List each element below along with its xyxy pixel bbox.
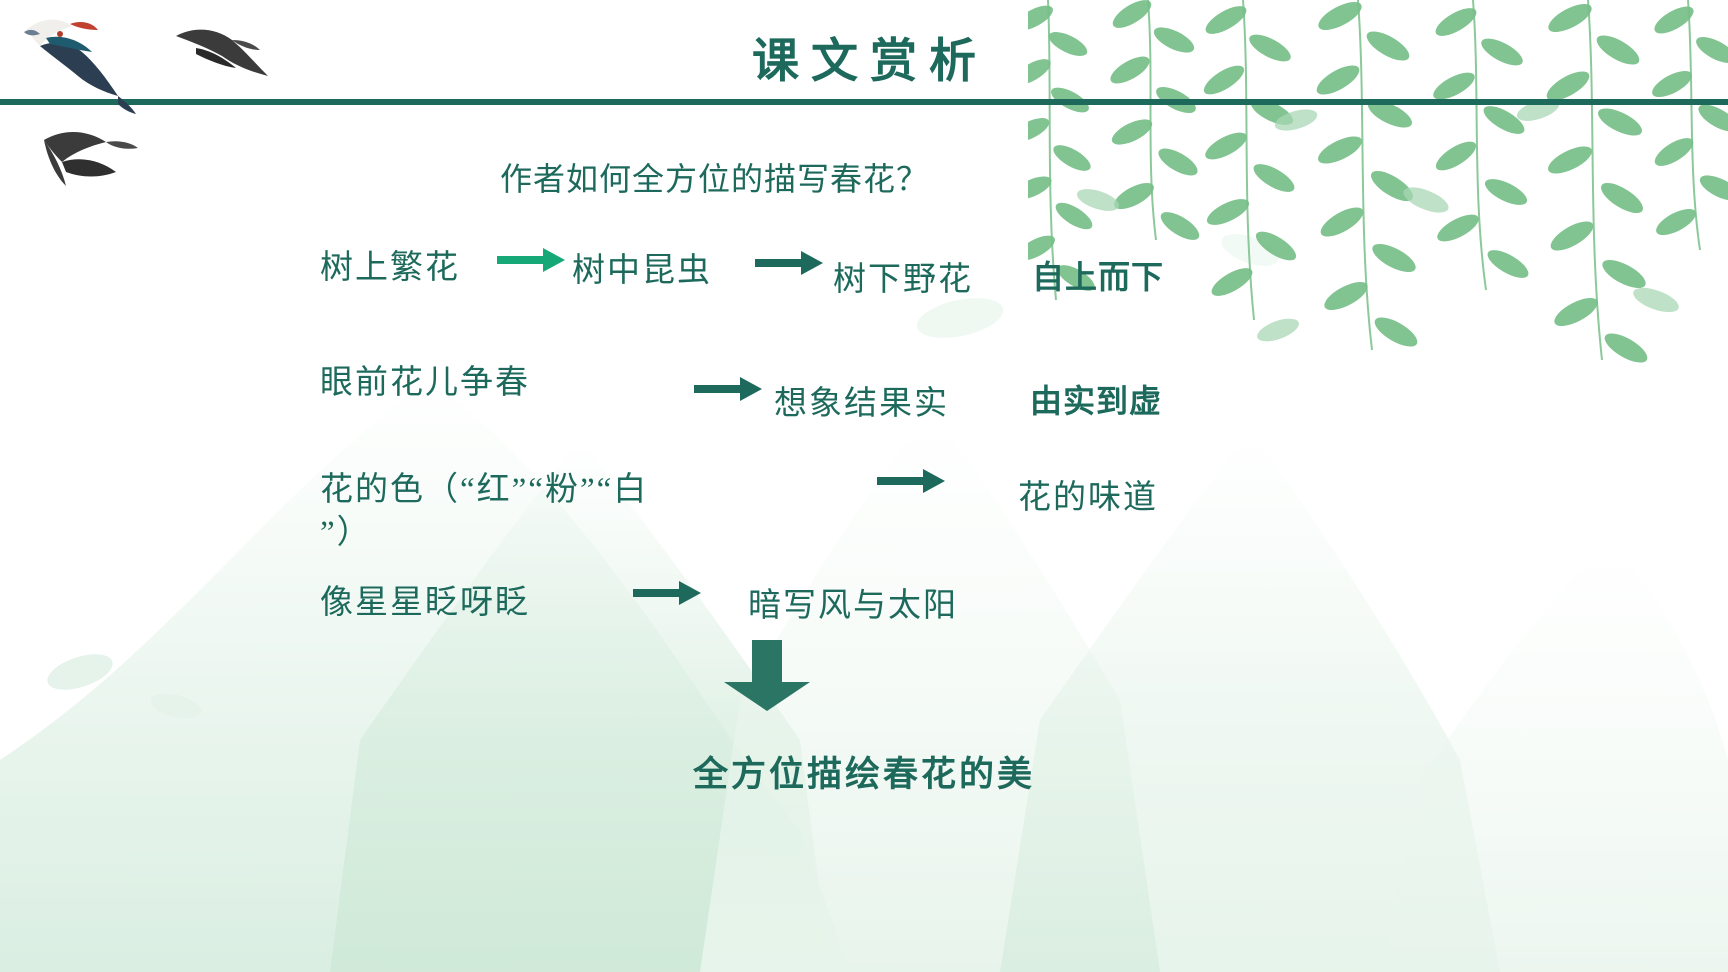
arrow-right-light-icon (497, 245, 567, 275)
conclusion-text: 全方位描绘春花的美 (0, 746, 1728, 797)
row2-to: 想象结果实 (774, 376, 949, 424)
row3-to: 花的味道 (1018, 470, 1158, 518)
row4-to: 暗写风与太阳 (748, 578, 958, 626)
row2-conclusion: 由实到虚 (1030, 376, 1162, 422)
row3-from-line1: 花的色（“红”“粉”“白 (320, 462, 648, 510)
arrow-right-dark-icon (876, 466, 948, 496)
row1-to: 树下野花 (833, 252, 973, 300)
arrow-down-block-icon (722, 640, 812, 712)
row1-mid: 树中昆虫 (572, 243, 712, 291)
row1-from: 树上繁花 (320, 240, 460, 288)
arrow-right-dark-icon (632, 578, 704, 608)
question-text: 作者如何全方位的描写春花？ (500, 154, 929, 200)
arrow-right-dark-icon (693, 374, 765, 404)
row2-from: 眼前花儿争春 (320, 355, 530, 403)
row4-from: 像星星眨呀眨 (320, 575, 530, 623)
arrow-right-dark-icon (755, 248, 825, 278)
row1-conclusion: 自上而下 (1032, 252, 1164, 298)
row3-from-line2: ”） (320, 505, 372, 553)
slide-content: 作者如何全方位的描写春花？ 树上繁花 树中昆虫 树下野花 自上而下 眼前花儿争春… (0, 0, 1728, 972)
